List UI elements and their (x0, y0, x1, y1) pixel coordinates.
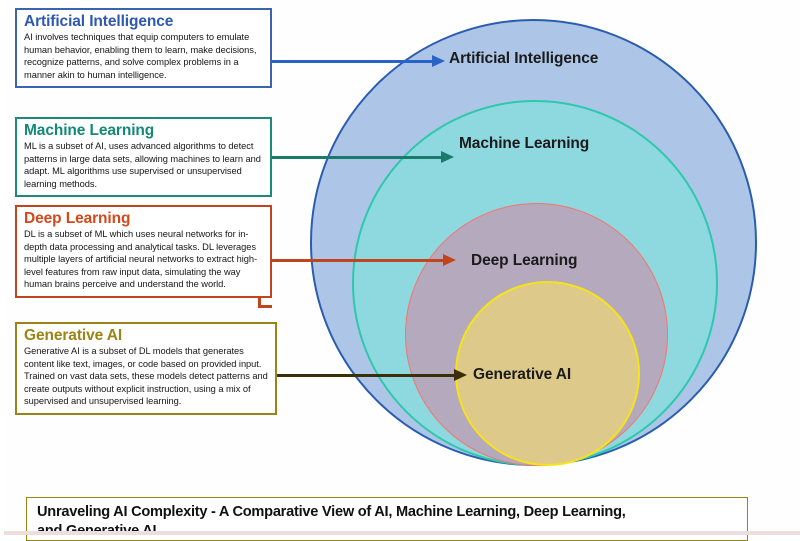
arrow-head-icon (432, 55, 445, 67)
circle-label-generative-ai: Generative AI (473, 366, 571, 384)
circle-label-deep-learning: Deep Learning (471, 252, 577, 270)
caption-line-1: Unraveling AI Complexity - A Comparative… (37, 503, 737, 522)
info-box-artificial-intelligence: Artificial Intelligence AI involves tech… (15, 8, 272, 88)
info-box-body: AI involves techniques that equip comput… (24, 31, 264, 81)
info-box-body: ML is a subset of AI, uses advanced algo… (24, 140, 264, 190)
info-box-title: Artificial Intelligence (24, 13, 264, 30)
circle-label-machine-learning: Machine Learning (459, 135, 589, 153)
arrow-head-icon (443, 254, 456, 266)
info-box-generative-ai: Generative AI Generative AI is a subset … (15, 322, 277, 415)
arrow-bracket-cap (258, 305, 272, 308)
info-box-deep-learning: Deep Learning DL is a subset of ML which… (15, 205, 272, 298)
arrow-shaft (273, 374, 456, 377)
info-box-title: Generative AI (24, 327, 269, 344)
bottom-edge-strip (0, 531, 800, 535)
arrow-shaft (258, 156, 443, 159)
arrow-head-icon (441, 151, 454, 163)
info-box-body: DL is a subset of ML which uses neural n… (24, 228, 264, 290)
circle-label-artificial-intelligence: Artificial Intelligence (449, 50, 598, 68)
arrow-shaft (258, 60, 434, 63)
info-box-machine-learning: Machine Learning ML is a subset of AI, u… (15, 117, 272, 197)
info-box-body: Generative AI is a subset of DL models t… (24, 345, 269, 407)
arrow-shaft (258, 259, 445, 262)
arrow-head-icon (454, 369, 467, 381)
diagram-canvas: Artificial Intelligence Machine Learning… (0, 0, 800, 535)
info-box-title: Deep Learning (24, 210, 264, 227)
left-edge-strip (0, 0, 4, 535)
info-box-title: Machine Learning (24, 122, 264, 139)
